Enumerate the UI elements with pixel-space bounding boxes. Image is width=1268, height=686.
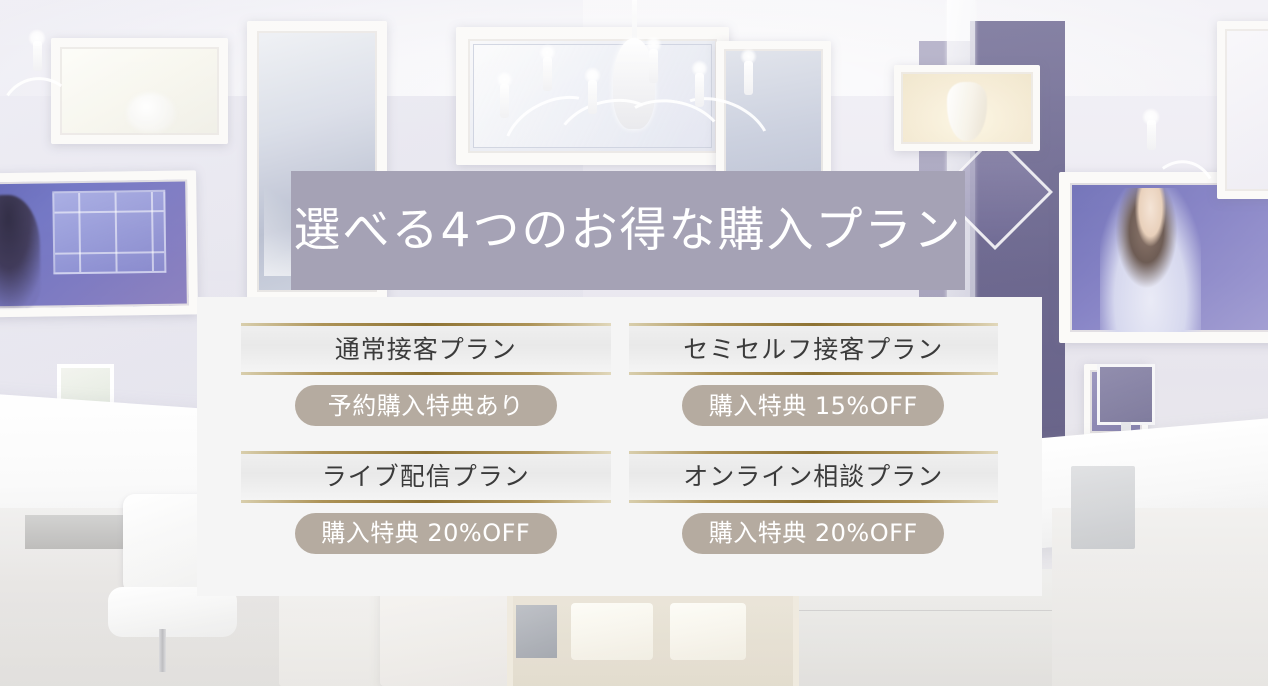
tabletop-monitor-right — [1097, 364, 1155, 426]
plans-panel: 通常接客プラン 予約購入特典あり セミセルフ接客プラン 購入特典 15%OFF … — [197, 297, 1042, 596]
chandelier-candle-bulb — [695, 73, 704, 107]
plan-card-semi-self[interactable]: セミセルフ接客プラン 購入特典 15%OFF — [629, 323, 999, 439]
chandelier — [482, 0, 786, 199]
vase-niche-frame — [894, 65, 1040, 151]
sconce-arm — [1134, 153, 1225, 255]
wall-sconce-left — [0, 27, 101, 192]
plan-title: ライブ配信プラン — [322, 464, 530, 489]
chandelier-candle-bulb — [500, 84, 509, 118]
sconce-candle-bulb — [33, 41, 42, 71]
headline-text: 選べる4つのお得な購入プラン — [294, 207, 963, 254]
chandelier-candle-bulb — [543, 57, 552, 91]
promo-banner-screen: 選べる4つのお得な購入プラン 通常接客プラン 予約購入特典あり セミセルフ接客プ… — [0, 0, 1268, 686]
chandelier-candle-bulb — [744, 61, 753, 95]
plan-header: セミセルフ接客プラン — [629, 323, 999, 375]
plan-card-online-consultation[interactable]: オンライン相談プラン 購入特典 20%OFF — [629, 451, 999, 567]
shelf-cushion — [571, 603, 653, 660]
person-silhouette — [0, 194, 41, 308]
chair-pole — [159, 629, 166, 672]
plan-benefit-text: 購入特典 20%OFF — [321, 521, 530, 545]
plan-header: オンライン相談プラン — [629, 451, 999, 503]
window-pane-graphic — [53, 189, 167, 274]
sconce-arm — [0, 70, 87, 168]
plan-header: ライブ配信プラン — [241, 451, 611, 503]
wall-sconce-right — [1122, 110, 1236, 288]
plan-title: セミセルフ接客プラン — [683, 337, 943, 362]
plan-benefit-badge: 購入特典 20%OFF — [295, 513, 557, 554]
plan-title: オンライン相談プラン — [683, 464, 943, 489]
plan-card-standard[interactable]: 通常接客プラン 予約購入特典あり — [241, 323, 611, 439]
plan-benefit-badge: 購入特典 15%OFF — [682, 385, 944, 426]
storage-bin-right — [1071, 466, 1134, 548]
plan-benefit-text: 予約購入特典あり — [328, 394, 524, 418]
plan-card-live-streaming[interactable]: ライブ配信プラン 購入特典 20%OFF — [241, 451, 611, 567]
shelving-unit-center — [507, 590, 799, 686]
plan-title: 通常接客プラン — [335, 337, 517, 362]
chandelier-candle-bulb — [588, 80, 597, 114]
white-vase — [947, 82, 987, 141]
plan-benefit-badge: 購入特典 20%OFF — [682, 513, 944, 554]
shelf-dark-box — [516, 605, 557, 658]
plan-header: 通常接客プラン — [241, 323, 611, 375]
plan-benefit-text: 購入特典 20%OFF — [709, 521, 918, 545]
plan-benefit-badge: 予約購入特典あり — [295, 385, 557, 426]
shelf-cushion — [670, 603, 746, 660]
headline-banner: 選べる4つのお得な購入プラン — [291, 171, 965, 290]
plan-benefit-text: 購入特典 15%OFF — [709, 394, 918, 418]
chandelier-candle-bulb — [649, 49, 658, 83]
sconce-candle-bulb — [1147, 120, 1156, 150]
